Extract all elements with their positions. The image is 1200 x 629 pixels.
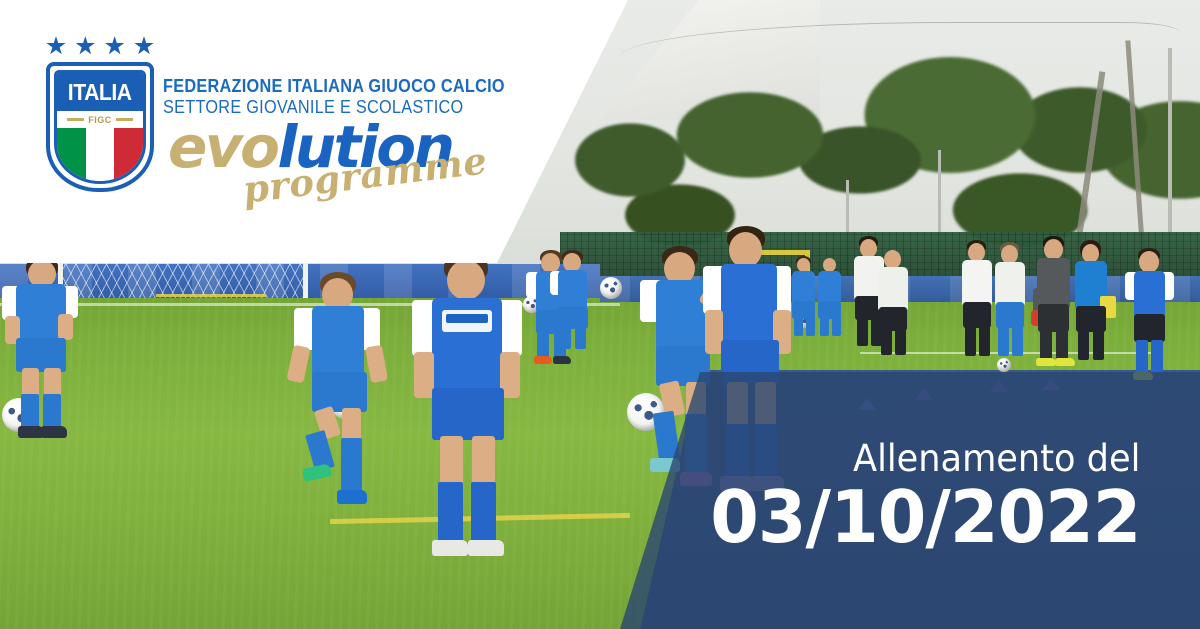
football (997, 358, 1011, 372)
star-icon (46, 36, 66, 56)
training-line-marking (156, 294, 266, 297)
tricolor-white (86, 128, 115, 181)
shield-italia-text: ITALIA (68, 79, 132, 106)
shield-inner: ITALIA FIGC (54, 70, 146, 184)
date-value: 03/10/2022 (710, 481, 1140, 553)
four-stars (46, 35, 154, 57)
date-block: Allenamento del 03/10/2022 (697, 440, 1140, 553)
federation-name: FEDERAZIONE ITALIANA GIUOCO CALCIO SETTO… (163, 76, 551, 117)
player-figure-foreground (410, 256, 530, 586)
coach-figure (988, 242, 1032, 360)
figc-bar-right (116, 118, 133, 121)
tricolor-red (114, 128, 143, 181)
italian-tricolor (57, 128, 143, 181)
player-figure (812, 258, 848, 336)
shield-outline: ITALIA FIGC (46, 62, 154, 192)
player-figure (548, 250, 604, 350)
figc-italia-shield-logo: ITALIA FIGC (40, 35, 160, 195)
figc-bar-left (67, 118, 84, 121)
evolution-programme-banner: ITALIA FIGC FEDERAZIONE ITALIANA GI (0, 0, 1200, 629)
date-label: Allenamento del (719, 440, 1140, 477)
tricolor-green (57, 128, 86, 181)
player-figure (1124, 248, 1176, 383)
shield-italia-band: ITALIA (57, 73, 143, 111)
player-figure (0, 258, 80, 388)
star-icon (75, 36, 95, 56)
coach-figure (872, 250, 914, 355)
shield-figc-text: FIGC (88, 115, 112, 125)
star-icon (105, 36, 125, 56)
star-icon (134, 36, 154, 56)
staff-figure (1068, 240, 1114, 365)
player-figure (292, 272, 387, 522)
shield-figc-row: FIGC (57, 111, 143, 128)
federation-line-1: FEDERAZIONE ITALIANA GIUOCO CALCIO (163, 76, 505, 96)
